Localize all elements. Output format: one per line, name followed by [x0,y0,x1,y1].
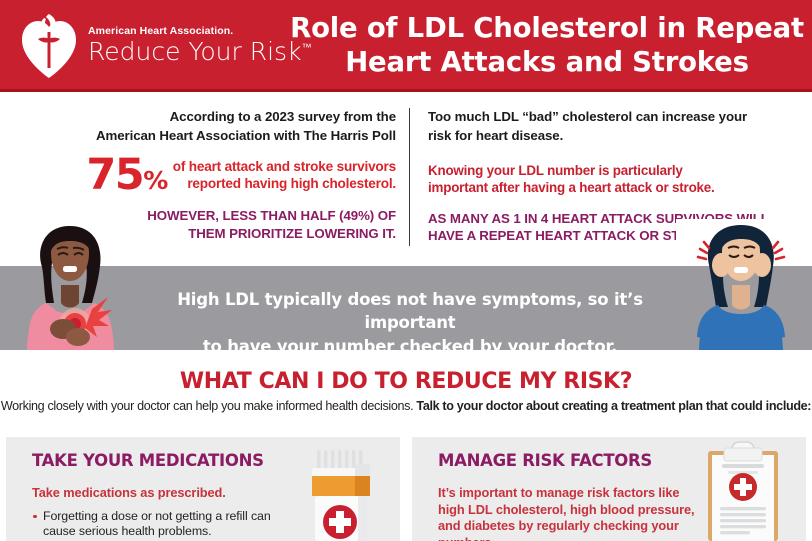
reduce-risk-heading: WHAT CAN I DO TO REDUCE MY RISK? [0,369,812,394]
card-right-lead: It’s important to manage risk factors li… [438,485,706,541]
reduce-risk-subtitle-bold: Talk to your doctor about creating a tre… [416,399,811,413]
survey-intro-line2: American Heart Association with The Harr… [18,127,396,146]
card-left-lead: Take medications as prescribed. [32,485,300,502]
know-your-ldl-statement: Knowing your LDL number is particularly … [428,162,800,197]
column-divider [409,108,410,246]
page-title-line1: Role of LDL Cholesterol in Repeat [290,12,804,46]
reduce-risk-subtitle: Working closely with your doctor can hel… [0,399,812,413]
card-left-bullet-list: Forgetting a dose or not getting a refil… [32,509,300,540]
aha-logo: American Heart Association. Reduce Your … [0,12,290,80]
clipboard-medical-icon [694,440,792,541]
list-item: Forgetting a dose or not getting a refil… [32,509,300,540]
aha-logo-text: American Heart Association. Reduce Your … [88,26,312,66]
page-title: Role of LDL Cholesterol in Repeat Heart … [290,12,812,79]
survey-intro-line1: According to a 2023 survey from the [18,108,396,127]
page-header: American Heart Association. Reduce Your … [0,0,812,92]
ldl-risk-intro-line1: Too much LDL “bad” cholesterol can incre… [428,108,800,127]
page-title-line2: Heart Attacks and Strokes [290,46,804,80]
symptoms-banner-line1: High LDL typically does not have symptom… [140,288,680,335]
statistic-description: of heart attack and stroke survivors rep… [173,158,396,193]
statistic-number: 75% [86,156,166,195]
card-right-body: MANAGE RISK FACTORS It’s important to ma… [438,452,706,541]
know-your-ldl-line2: important after having a heart attack or… [428,179,800,197]
aha-heart-torch-icon [18,12,80,80]
statistic-description-line2: reported having high cholesterol. [173,175,396,192]
reduce-risk-subtitle-plain: Working closely with your doctor can hel… [1,399,417,413]
survey-intro: According to a 2023 survey from the Amer… [18,108,396,146]
pill-bottle-icon [300,448,386,541]
card-manage-risk-factors: MANAGE RISK FACTORS It’s important to ma… [412,437,806,541]
know-your-ldl-line1: Knowing your LDL number is particularly [428,162,800,180]
woman-chest-pain-illustration [6,219,138,350]
ldl-risk-intro: Too much LDL “bad” cholesterol can incre… [428,108,800,146]
card-left-title: TAKE YOUR MEDICATIONS [32,452,300,470]
card-right-title: MANAGE RISK FACTORS [438,452,706,470]
card-take-your-medications: TAKE YOUR MEDICATIONS Take medications a… [6,437,400,541]
cholesterol-statistic: 75% of heart attack and stroke survivors… [18,156,396,195]
symptoms-banner-text: High LDL typically does not have symptom… [140,288,680,358]
card-left-body: TAKE YOUR MEDICATIONS Take medications a… [32,452,300,540]
statistic-description-line1: of heart attack and stroke survivors [173,158,396,175]
ldl-risk-intro-line2: risk for heart disease. [428,127,800,146]
reduce-risk-section: WHAT CAN I DO TO REDUCE MY RISK? Working… [0,350,812,437]
aha-program-name: Reduce Your Risk™ [88,38,312,66]
woman-headache-illustration [676,219,806,350]
percent-symbol: % [143,166,167,195]
